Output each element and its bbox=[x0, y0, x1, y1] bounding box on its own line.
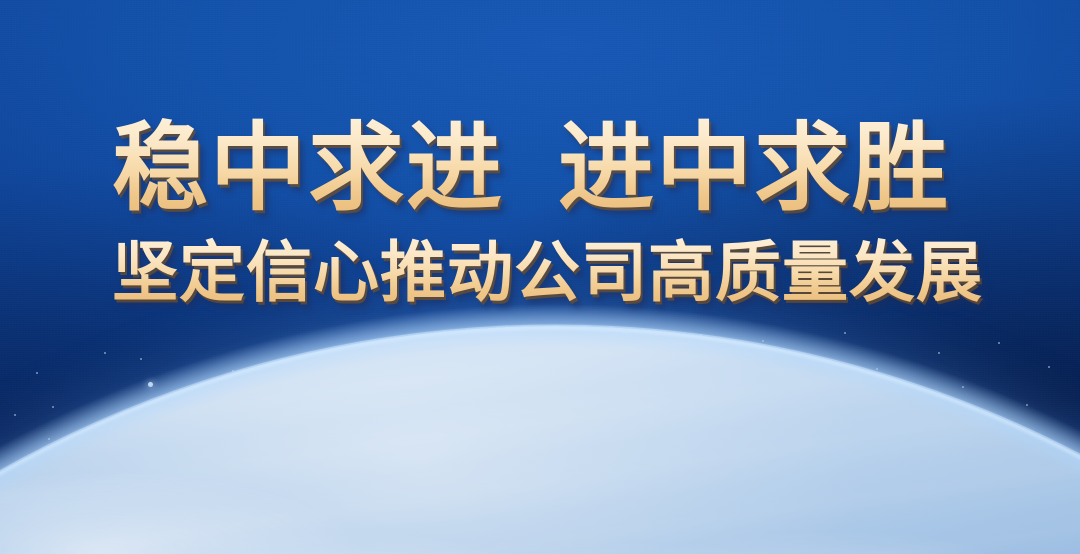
poster-canvas: 稳中求进进中求胜 坚定信心推动公司高质量发展 bbox=[0, 0, 1080, 554]
poster-copy: 稳中求进进中求胜 坚定信心推动公司高质量发展 bbox=[112, 118, 992, 308]
earth-globe bbox=[0, 326, 1080, 554]
headline-phrase-2: 进中求胜 bbox=[558, 115, 950, 222]
poster-headline: 稳中求进进中求胜 bbox=[112, 118, 992, 220]
earth-cloud-bands bbox=[0, 326, 1080, 554]
headline-phrase-1: 稳中求进 bbox=[112, 115, 504, 222]
poster-subheadline: 坚定信心推动公司高质量发展 bbox=[112, 236, 992, 309]
